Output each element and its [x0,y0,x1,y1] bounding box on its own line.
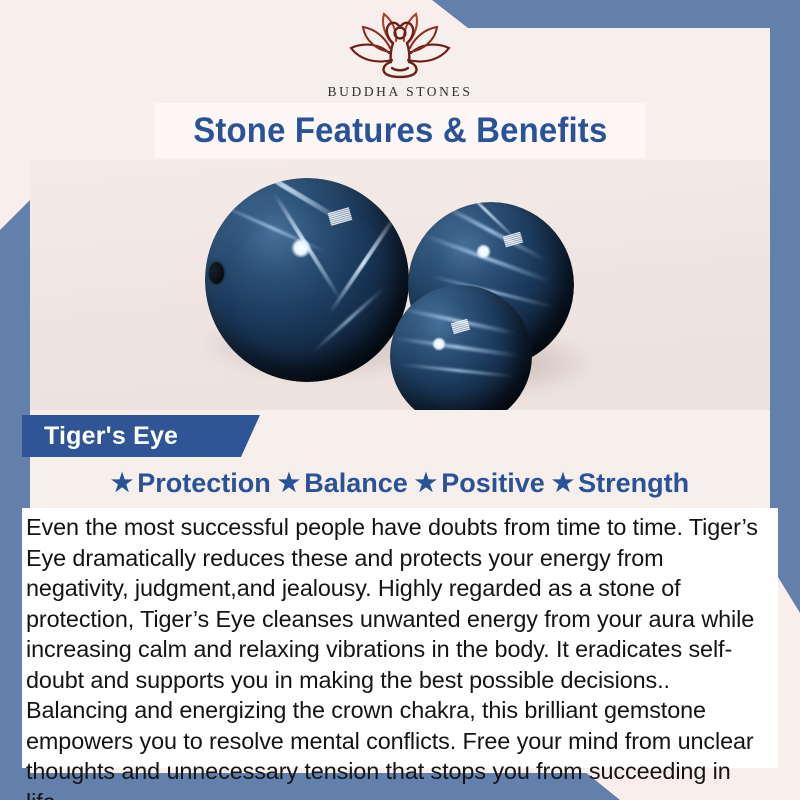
benefit-label: Strength [578,468,689,499]
benefit-label: Balance [304,468,408,499]
stone-name-label: Tiger's Eye [22,422,178,451]
star-icon: ★ [278,471,300,496]
brand-logo: BUDDHA STONES [0,10,800,100]
benefits-row: ★ Protection ★ Balance ★ Positive ★ Stre… [30,463,770,503]
description-panel: Even the most successful people have dou… [22,508,778,768]
gemstone-large [205,178,409,382]
benefit-item-strength: ★ Strength [552,468,689,499]
infographic-page: BUDDHA STONES Stone Features & Benefits [0,0,800,800]
benefit-item-protection: ★ Protection [111,468,271,499]
star-icon: ★ [552,471,574,496]
benefit-item-positive: ★ Positive [415,468,545,499]
benefit-label: Positive [441,468,545,499]
brand-wordmark: BUDDHA STONES [0,84,800,100]
description-text: Even the most successful people have dou… [26,512,768,800]
gemstone-rim-shading [205,178,409,382]
benefit-label: Protection [137,468,271,499]
page-title-band: Stone Features & Benefits [155,103,645,158]
stone-name-banner: Tiger's Eye [22,415,260,457]
page-title: Stone Features & Benefits [193,111,607,151]
hero-image-gemstones [30,160,770,410]
lotus-meditation-figure-icon [336,10,464,82]
star-icon: ★ [111,471,133,496]
star-icon: ★ [415,471,437,496]
benefit-item-balance: ★ Balance [278,468,408,499]
